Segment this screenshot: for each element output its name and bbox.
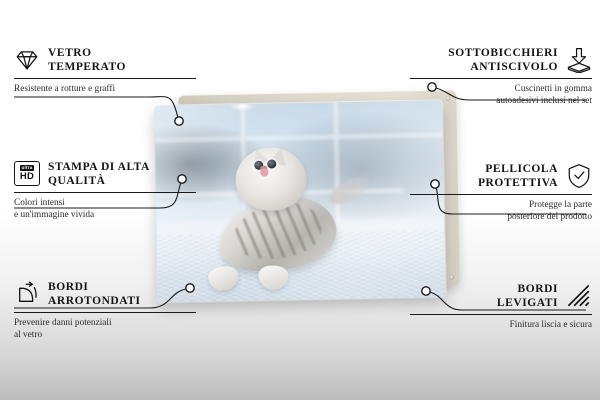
connector-dot — [175, 117, 183, 125]
feature-title-line: SOTTOBICCHIERI — [448, 46, 558, 60]
feature-subtitle-line: autoadesivi inclusi nel set — [410, 95, 592, 107]
divider — [14, 312, 196, 313]
divider — [410, 314, 592, 315]
feature-subtitle-line: Protegge la parte — [410, 199, 592, 211]
divider — [14, 192, 196, 193]
feature-subtitle-line: Resistente a rotture e graffi — [14, 83, 196, 95]
diamond-icon — [14, 47, 40, 73]
feature-title-line: BORDI — [497, 282, 558, 296]
divider — [14, 78, 196, 79]
infographic-canvas: VETRO TEMPERATO Resistente a rotture e g… — [0, 0, 600, 400]
feature-title-line: PELLICOLA — [478, 162, 558, 176]
pad-down-arrow-icon — [566, 47, 592, 73]
rounded-corner-icon — [14, 281, 40, 307]
feature-vetro-temperato: VETRO TEMPERATO Resistente a rotture e g… — [14, 46, 196, 95]
feature-title-line: ANTISCIVOLO — [448, 60, 558, 74]
diagonal-stripes-icon — [566, 283, 592, 309]
feature-stampa-alta-qualita: ultra HD STAMPA DI ALTA QUALITÀ Colori i… — [14, 160, 196, 221]
feature-title-line: QUALITÀ — [48, 174, 150, 188]
feature-subtitle-line: Finitura liscia e sicura — [410, 319, 592, 331]
divider — [410, 78, 592, 79]
feature-title-line: TEMPERATO — [48, 60, 126, 74]
shield-check-icon — [566, 163, 592, 189]
feature-title-line: BORDI — [48, 280, 141, 294]
ultra-hd-icon: ultra HD — [14, 161, 40, 187]
feature-bordi-arrotondati: BORDI ARROTONDATI Prevenire danni potenz… — [14, 280, 196, 341]
divider — [410, 194, 592, 195]
feature-subtitle-line: e un'immagine vivida — [14, 209, 196, 221]
feature-subtitle-line: al vetro — [14, 329, 196, 341]
feature-subtitle-line: Colori intensi — [14, 197, 196, 209]
feature-title-line: STAMPA DI ALTA — [48, 160, 150, 174]
feature-subtitle-line: Cuscinetti in gomma — [410, 83, 592, 95]
feature-title-line: PROTETTIVA — [478, 176, 558, 190]
feature-subtitle-line: posteriore del prodotto — [410, 211, 592, 223]
feature-title-line: LEVIGATI — [497, 296, 558, 310]
feature-subtitle-line: Prevenire danni potenziali — [14, 317, 196, 329]
feature-pellicola-protettiva: PELLICOLA PROTETTIVA Protegge la parte p… — [410, 162, 592, 223]
feature-title-line: VETRO — [48, 46, 126, 60]
hd-badge-label: HD — [20, 172, 34, 182]
feature-sottobicchieri-antiscivolo: SOTTOBICCHIERI ANTISCIVOLO Cuscinetti in… — [410, 46, 592, 107]
feature-bordi-levigati: BORDI LEVIGATI Finitura liscia e sicura — [410, 282, 592, 331]
feature-title-line: ARROTONDATI — [48, 294, 141, 308]
